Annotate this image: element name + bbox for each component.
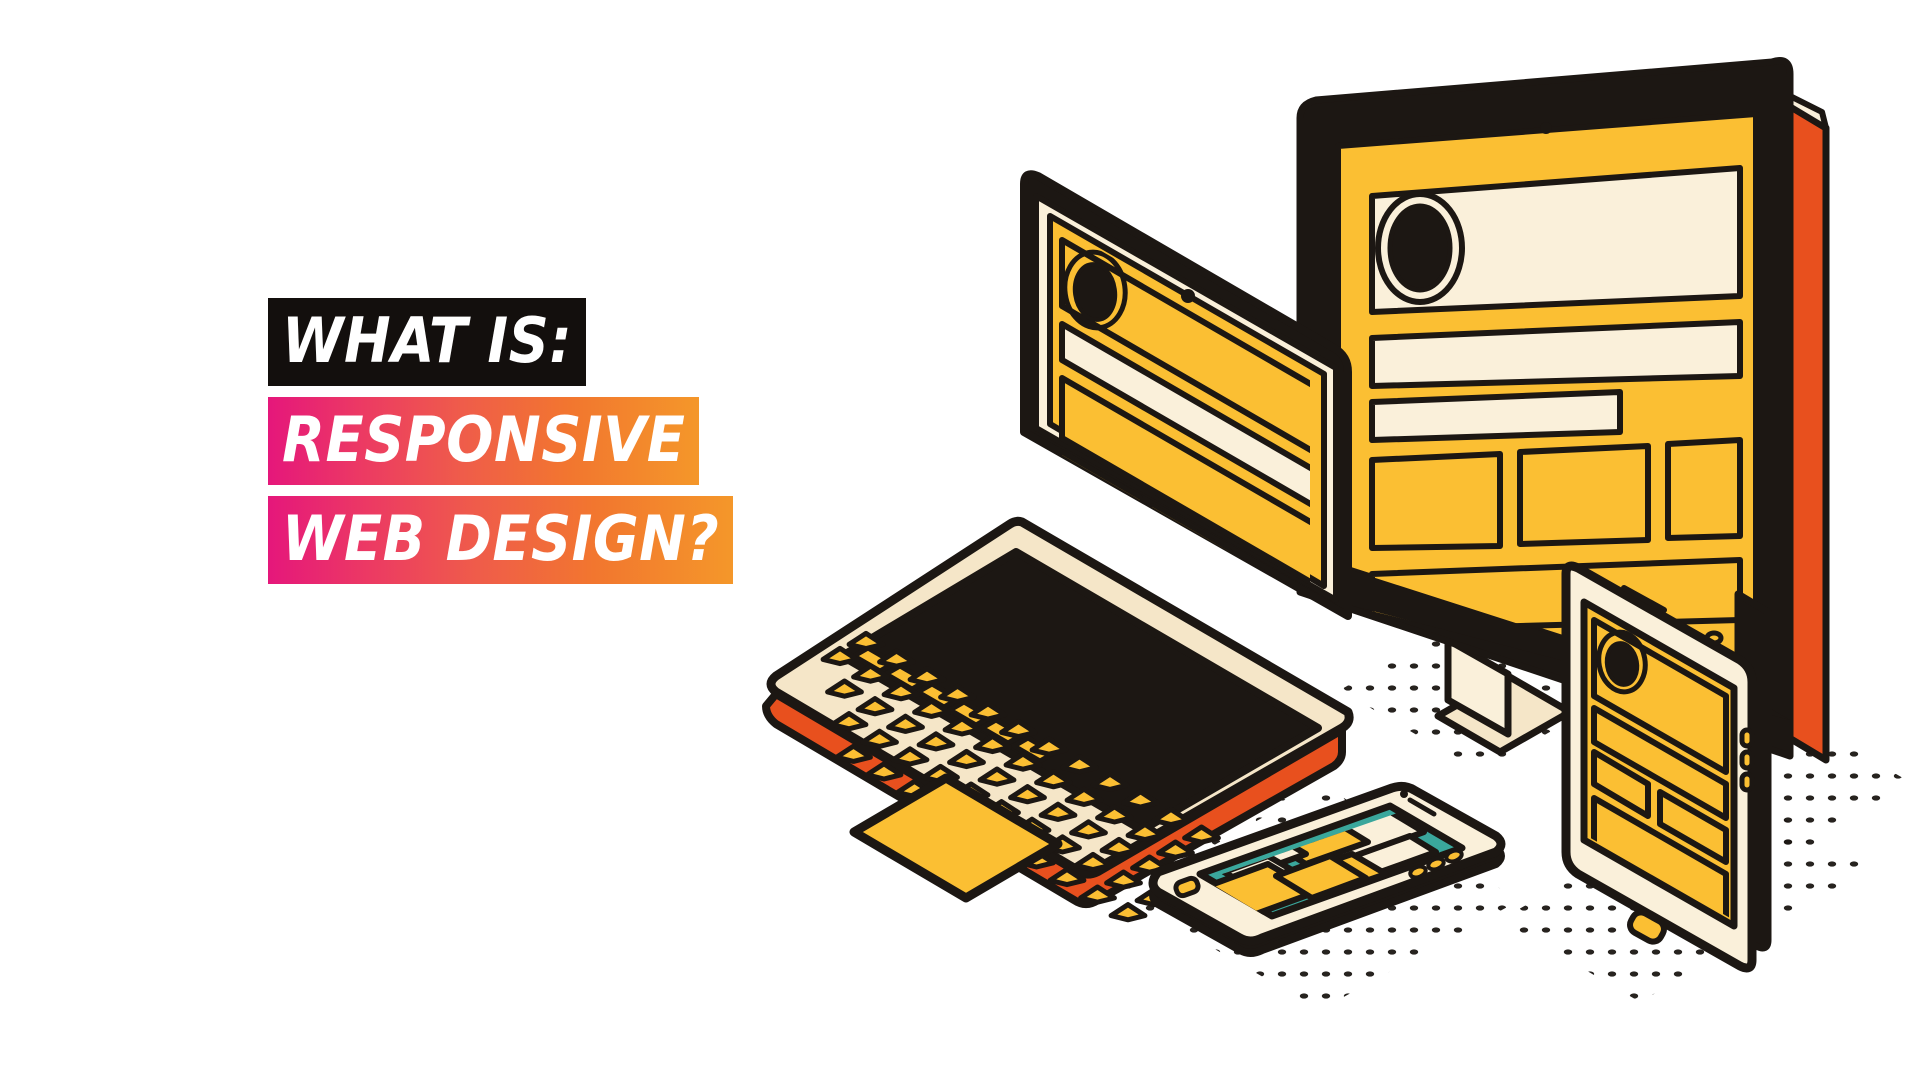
device-laptop bbox=[766, 174, 1349, 920]
device-smartphone bbox=[1153, 786, 1501, 953]
laptop-text-line bbox=[1062, 324, 1314, 506]
monitor-footer-bar bbox=[1372, 560, 1740, 630]
monitor-avatar-ring bbox=[1378, 194, 1462, 302]
tablet-camera-icon bbox=[1707, 633, 1721, 643]
laptop-key[interactable] bbox=[1111, 905, 1145, 920]
headline-line-1-text: WHAT IS: bbox=[282, 310, 572, 372]
shadow-monitor-right bbox=[1700, 730, 1910, 852]
laptop-key[interactable] bbox=[884, 684, 918, 699]
laptop-key[interactable] bbox=[989, 834, 1023, 849]
laptop-key[interactable] bbox=[915, 701, 949, 716]
phone-body-shadow bbox=[1153, 798, 1501, 953]
phone-screen-content bbox=[1208, 808, 1436, 914]
tablet-avatar-icon bbox=[1604, 641, 1641, 688]
tablet-split-right bbox=[1660, 792, 1726, 862]
laptop-key[interactable] bbox=[1124, 792, 1158, 807]
headline-line-3: WEB DESIGN? bbox=[268, 496, 733, 584]
laptop-key[interactable] bbox=[1137, 890, 1171, 905]
laptop-key[interactable] bbox=[1215, 845, 1249, 860]
laptop-lid bbox=[1024, 174, 1348, 616]
laptop-card-row-2 bbox=[1152, 506, 1230, 606]
laptop-key[interactable] bbox=[928, 799, 962, 814]
laptop-screen bbox=[1050, 216, 1324, 586]
shadow-laptop-right bbox=[960, 710, 1290, 893]
laptop-key[interactable] bbox=[832, 714, 866, 729]
tablet-card-bottom bbox=[1594, 798, 1726, 932]
headline-line-2-text: RESPONSIVE bbox=[282, 409, 685, 471]
laptop-hero-card bbox=[1062, 240, 1314, 452]
headline-line-1: WHAT IS: bbox=[268, 298, 586, 386]
monitor-card-1 bbox=[1372, 454, 1500, 548]
laptop-avatar-icon bbox=[1071, 261, 1118, 322]
shadow-phone bbox=[1130, 790, 1520, 1010]
laptop-screen-content bbox=[1060, 240, 1318, 658]
tablet-screen bbox=[1584, 602, 1734, 926]
phone-line-3 bbox=[1288, 854, 1386, 896]
headline-line-3-text: WEB DESIGN? bbox=[282, 508, 719, 570]
monitor-card-2 bbox=[1520, 446, 1648, 544]
laptop-key[interactable] bbox=[1020, 852, 1054, 867]
laptop-key[interactable] bbox=[1006, 754, 1040, 769]
laptop-key[interactable] bbox=[1159, 842, 1193, 857]
laptop-key[interactable] bbox=[1133, 857, 1167, 872]
laptop-key[interactable] bbox=[854, 666, 888, 681]
monitor-side-cream bbox=[1770, 86, 1826, 128]
laptop-key[interactable] bbox=[1185, 827, 1219, 842]
monitor-card-3 bbox=[1668, 440, 1740, 538]
laptop-key[interactable] bbox=[1032, 739, 1066, 754]
phone-avatar-card bbox=[1306, 808, 1424, 860]
laptop-key[interactable] bbox=[985, 802, 1019, 817]
laptop-key[interactable] bbox=[828, 681, 862, 696]
laptop-key[interactable] bbox=[1163, 875, 1197, 890]
laptop-keyboard-well bbox=[842, 552, 1318, 830]
phone-tile-1 bbox=[1208, 864, 1316, 914]
laptop-lid-frame bbox=[1036, 196, 1336, 600]
tablet-text-line bbox=[1594, 708, 1726, 818]
laptop-key[interactable] bbox=[1189, 860, 1223, 875]
laptop-key[interactable] bbox=[1037, 772, 1071, 787]
laptop-key[interactable] bbox=[849, 633, 883, 648]
monitor-side-orange bbox=[1786, 104, 1826, 760]
laptop-key-grid bbox=[823, 633, 1249, 919]
laptop-key[interactable] bbox=[945, 719, 979, 734]
phone-avatar-icon bbox=[1321, 826, 1347, 846]
poster-canvas: WHAT IS: RESPONSIVE WEB DESIGN? bbox=[0, 0, 1920, 1080]
laptop-key[interactable] bbox=[1015, 819, 1049, 834]
laptop-key[interactable] bbox=[823, 648, 857, 663]
monitor-screen bbox=[1338, 114, 1756, 700]
phone-side-buttons[interactable] bbox=[1409, 849, 1463, 880]
monitor-bezel-bottom bbox=[1300, 566, 1790, 720]
laptop-key[interactable] bbox=[880, 651, 914, 666]
shadow-tablet bbox=[1500, 788, 1870, 1002]
laptop-key[interactable] bbox=[910, 669, 944, 684]
laptop-key[interactable] bbox=[954, 784, 988, 799]
phone-home-button[interactable] bbox=[1174, 877, 1199, 898]
phone-line-1 bbox=[1332, 836, 1436, 880]
device-tablet bbox=[1566, 566, 1768, 968]
tablet-split-left bbox=[1594, 752, 1648, 816]
laptop-key[interactable] bbox=[919, 734, 953, 749]
laptop-key[interactable] bbox=[863, 731, 897, 746]
monitor-avatar-icon bbox=[1390, 206, 1450, 290]
laptop-key[interactable] bbox=[889, 716, 923, 731]
phone-line-2 bbox=[1270, 820, 1368, 864]
monitor-hero-card bbox=[1372, 168, 1740, 312]
laptop-key[interactable] bbox=[1093, 774, 1127, 789]
laptop-webcam-icon bbox=[1181, 289, 1195, 303]
laptop-key[interactable] bbox=[950, 751, 984, 766]
shadow-monitor bbox=[1340, 606, 1630, 772]
laptop-key[interactable] bbox=[898, 781, 932, 796]
tablet-speaker-icon bbox=[1624, 588, 1664, 610]
shadow-laptop bbox=[760, 596, 1110, 795]
laptop-card-row-1 bbox=[1062, 452, 1140, 552]
tablet-screen-content bbox=[1594, 620, 1726, 932]
laptop-key[interactable] bbox=[837, 746, 871, 761]
tablet-home-button[interactable] bbox=[1627, 909, 1667, 945]
tablet-avatar-ring bbox=[1594, 628, 1650, 695]
laptop-trackpad bbox=[854, 778, 1058, 898]
tablet-hero-card bbox=[1594, 620, 1726, 772]
monitor-webcam-icon bbox=[1540, 122, 1552, 134]
tablet-side-buttons[interactable] bbox=[1742, 730, 1752, 790]
laptop-key[interactable] bbox=[1102, 839, 1136, 854]
laptop-card-row-3 bbox=[1242, 560, 1318, 658]
phone-tile-2 bbox=[1276, 856, 1366, 898]
laptop-key[interactable] bbox=[976, 736, 1010, 751]
laptop-base-front-edge bbox=[766, 694, 1342, 904]
phone-speaker-icon bbox=[1410, 800, 1434, 814]
laptop-key[interactable] bbox=[1067, 789, 1101, 804]
phone-screen bbox=[1200, 806, 1462, 916]
monitor-text-line bbox=[1372, 322, 1740, 386]
monitor-screen-content bbox=[1372, 168, 1740, 630]
laptop-key[interactable] bbox=[858, 699, 892, 714]
laptop-key[interactable] bbox=[1107, 872, 1141, 887]
laptop-key[interactable] bbox=[1128, 824, 1162, 839]
laptop-base bbox=[771, 521, 1349, 871]
laptop-key[interactable] bbox=[1098, 807, 1132, 822]
phone-small-row-1 bbox=[1238, 840, 1306, 870]
tablet-side bbox=[1738, 594, 1768, 948]
laptop-key[interactable] bbox=[959, 817, 993, 832]
monitor-text-line-2 bbox=[1372, 392, 1620, 440]
laptop-key[interactable] bbox=[1011, 787, 1045, 802]
laptop-key[interactable] bbox=[1081, 887, 1115, 902]
phone-camera-icon bbox=[1400, 790, 1408, 798]
headline-block: WHAT IS: RESPONSIVE WEB DESIGN? bbox=[268, 298, 733, 584]
monitor-stand-neck bbox=[1448, 640, 1508, 734]
laptop-key[interactable] bbox=[941, 686, 975, 701]
phone-frame bbox=[1153, 786, 1501, 941]
laptop-keyboard-keys bbox=[854, 648, 1054, 761]
device-desktop-monitor bbox=[1300, 61, 1826, 761]
laptop-key[interactable] bbox=[893, 749, 927, 764]
tablet-frame bbox=[1566, 566, 1752, 968]
laptop-key[interactable] bbox=[1063, 757, 1097, 772]
laptop-card-main bbox=[1062, 378, 1314, 584]
laptop-key[interactable] bbox=[971, 704, 1005, 719]
monitor-body bbox=[1300, 61, 1790, 757]
laptop-key[interactable] bbox=[924, 766, 958, 781]
laptop-key[interactable] bbox=[980, 769, 1014, 784]
ground-shadow-group bbox=[760, 596, 1910, 1010]
headline-line-2: RESPONSIVE bbox=[268, 397, 699, 485]
laptop-key[interactable] bbox=[1072, 822, 1106, 837]
laptop-key[interactable] bbox=[1046, 837, 1080, 852]
monitor-stand-base bbox=[1438, 676, 1570, 752]
laptop-key[interactable] bbox=[1076, 854, 1110, 869]
laptop-key[interactable] bbox=[1050, 869, 1084, 884]
laptop-key[interactable] bbox=[1002, 721, 1036, 736]
phone-small-row-2 bbox=[1224, 856, 1292, 886]
laptop-key[interactable] bbox=[1041, 804, 1075, 819]
laptop-avatar-ring bbox=[1060, 248, 1130, 332]
laptop-key[interactable] bbox=[1154, 809, 1188, 824]
laptop-key[interactable] bbox=[867, 764, 901, 779]
